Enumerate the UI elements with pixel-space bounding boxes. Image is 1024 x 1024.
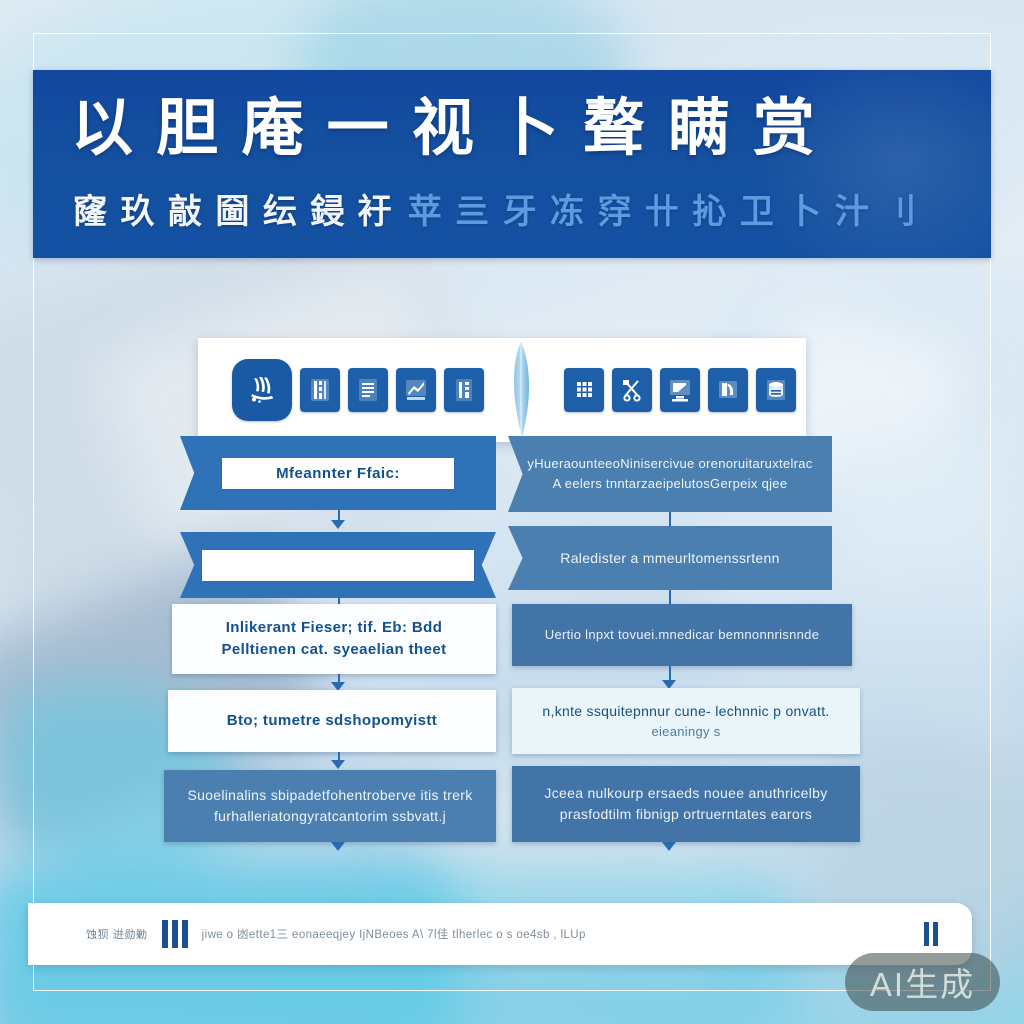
footer-text: jiwe o 凼ette1三 eonaeeqjey IjNBeoes A\ 7l… xyxy=(202,926,586,942)
right-node-1[interactable]: yHueraounteeoNinisercivue orenoruitaruxt… xyxy=(508,436,832,512)
database-cylinder-icon[interactable] xyxy=(756,368,796,412)
flame-brush-icon[interactable] xyxy=(232,359,292,421)
right-node-5[interactable]: Jceea nulkourp ersaeds nouee anuthricelb… xyxy=(512,766,860,842)
left-node-1[interactable]: Mfeannter Ffaic: xyxy=(180,436,496,510)
connector-stem xyxy=(669,512,671,526)
right-node-1-line-2: A eelers tnntarzaeipelutosGerpeix qjee xyxy=(553,474,788,494)
text-lines-icon[interactable] xyxy=(348,368,388,412)
footer-label: 蚀狈 逬勋勦 xyxy=(86,926,148,942)
left-node-5-line-2: furhalleriatongyratcantorim ssbvatt.j xyxy=(214,806,446,827)
triple-bar-icon xyxy=(924,922,938,946)
right-node-3[interactable]: Uertio lnpxt tovuei.mnedicar bemnonnrisn… xyxy=(512,604,852,666)
icon-toolbar xyxy=(198,338,806,442)
left-node-5[interactable]: Suoelinalins sbipadetfohentroberve itis … xyxy=(164,770,496,842)
poster-canvas: 以 胆 庵 一 视 卜 聱 瞒 赏 窿 玖 敲 圙 纭 鋟 衧苹 亖 牙 冻 窏… xyxy=(0,0,1024,1024)
left-node-4-line-1: Bto; tumetre sdshopomyistt xyxy=(227,710,437,732)
header-banner: 以 胆 庵 一 视 卜 聱 瞒 赏 窿 玖 敲 圙 纭 鋟 衧苹 亖 牙 冻 窏… xyxy=(33,70,991,258)
network-scissors-icon[interactable] xyxy=(612,368,652,412)
right-node-4[interactable]: n,knte ssquitepnnur cune- lechnnic p onv… xyxy=(512,688,860,754)
footer-bar: 蚀狈 逬勋勦 jiwe o 凼ette1三 eonaeeqjey IjNBeoe… xyxy=(28,903,972,965)
right-node-4-line-2: eieaningy s xyxy=(651,722,720,742)
left-node-2[interactable] xyxy=(180,532,496,598)
ruler-note-icon[interactable] xyxy=(444,368,484,412)
page-title: 以 胆 庵 一 视 卜 聱 瞒 赏 xyxy=(71,92,818,166)
ai-watermark-label: AI生成 xyxy=(870,958,975,1006)
icon-group-left xyxy=(212,359,504,421)
left-node-4[interactable]: Bto; tumetre sdshopomyistt xyxy=(168,690,496,752)
right-node-1-line-1: yHueraounteeoNinisercivue orenoruitaruxt… xyxy=(527,454,812,474)
left-node-3-line-1: Inlikerant Fieser; tif. Eb: Bdd xyxy=(226,617,443,639)
connector-arrow xyxy=(331,760,345,769)
ai-watermark-badge: AI生成 xyxy=(845,953,1000,1011)
right-node-4-line-1: n,knte ssquitepnnur cune- lechnnic p onv… xyxy=(542,701,829,722)
flowchart: Mfeannter Ffaic: Inlikerant Fieser; tif.… xyxy=(160,436,872,872)
left-node-5-line-1: Suoelinalins sbipadetfohentroberve itis … xyxy=(187,785,472,806)
left-node-1-field[interactable]: Mfeannter Ffaic: xyxy=(222,458,454,489)
connector-stem xyxy=(669,590,671,604)
right-node-2-line-1: Raledister a mmeurltomenssrtenn xyxy=(560,548,779,569)
grid-nine-icon[interactable] xyxy=(564,368,604,412)
chart-trend-icon[interactable] xyxy=(396,368,436,412)
connector-arrow xyxy=(331,842,345,851)
left-node-3[interactable]: Inlikerant Fieser; tif. Eb: Bdd Pelltien… xyxy=(172,604,496,674)
right-node-5-line-2: prasfodtilm fibnigp ortruerntates earors xyxy=(560,804,812,825)
page-subtitle: 窿 玖 敲 圙 纭 鋟 衧苹 亖 牙 冻 窏 卄 抋 卫 卜 汁 刂 xyxy=(73,190,918,234)
connector-arrow xyxy=(331,520,345,529)
icon-group-right xyxy=(544,368,816,412)
right-node-5-line-1: Jceea nulkourp ersaeds nouee anuthricelb… xyxy=(544,783,827,804)
document-card-icon[interactable] xyxy=(300,368,340,412)
subtitle-primary: 窿 玖 敲 圙 纭 鋟 衧 xyxy=(73,193,394,231)
subtitle-secondary: 苹 亖 牙 冻 窏 卄 抋 卫 卜 汁 刂 xyxy=(408,193,918,231)
left-node-3-line-2: Pelltienen cat. syeaelian theet xyxy=(222,639,447,661)
right-node-3-line-1: Uertio lnpxt tovuei.mnedicar bemnonnrisn… xyxy=(545,625,820,645)
connector-arrow xyxy=(662,842,676,851)
left-node-2-field[interactable] xyxy=(202,550,474,581)
leaf-divider-icon xyxy=(504,338,538,442)
triple-bar-icon xyxy=(162,920,188,948)
monitor-screen-icon[interactable] xyxy=(660,368,700,412)
right-node-2[interactable]: Raledister a mmeurltomenssrtenn xyxy=(508,526,832,590)
display-panel-icon[interactable] xyxy=(708,368,748,412)
